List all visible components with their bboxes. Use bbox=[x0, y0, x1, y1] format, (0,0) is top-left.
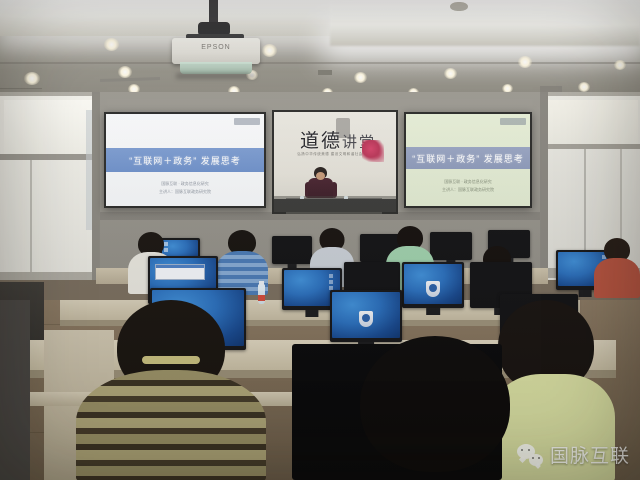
wechat-dot bbox=[532, 457, 534, 459]
slide-subtitle-1: 国脉互联 · 政务信息化研究 bbox=[406, 178, 530, 185]
slide-left: “互联网＋政务” 发展思考 国脉互联 · 政务信息化研究 主讲人：国脉互联政务研… bbox=[106, 114, 264, 206]
slide-logo-icon bbox=[234, 118, 260, 125]
smoke-detector-icon bbox=[450, 2, 468, 11]
monitor-screen bbox=[404, 264, 462, 304]
attendee-body bbox=[594, 258, 640, 298]
monitor-icon[interactable] bbox=[402, 262, 464, 308]
speaker-face bbox=[316, 172, 325, 180]
window-blind-rail bbox=[0, 154, 98, 160]
wechat-logo-icon bbox=[517, 444, 543, 466]
attendee-collar bbox=[142, 356, 200, 364]
ceiling-seam bbox=[0, 62, 640, 64]
ceiling-downlight-icon bbox=[354, 72, 367, 83]
ceiling-downlight-icon bbox=[614, 60, 626, 70]
monitor-screen bbox=[332, 292, 400, 338]
wechat-bubble-small bbox=[529, 454, 543, 466]
attendee-body-striped-shirt bbox=[76, 370, 266, 480]
attendee bbox=[594, 238, 640, 294]
projector-icon bbox=[172, 38, 260, 64]
window-blind-seam bbox=[30, 160, 32, 272]
attendee-head bbox=[360, 336, 510, 472]
wechat-dot bbox=[538, 457, 540, 459]
projector-shadow bbox=[176, 73, 256, 79]
slide-subtitle-2: 主讲人：国脉互联政务研究院 bbox=[106, 188, 264, 195]
backdrop-title-main: 道德 bbox=[300, 130, 342, 152]
window-blind-upper bbox=[548, 100, 638, 146]
ceiling-downlight-icon bbox=[578, 82, 590, 92]
foreground-attendee-striped bbox=[76, 300, 266, 480]
window-frame-right bbox=[540, 92, 548, 288]
ceiling-downlight-icon bbox=[24, 72, 40, 85]
backdrop-subtitle: 弘扬中华传统美德 建设文明和谐社会 bbox=[288, 152, 372, 157]
monitor-stand bbox=[305, 310, 318, 317]
side-cabinet-front bbox=[0, 300, 30, 480]
window-blind-upper bbox=[4, 100, 94, 156]
bottle-cap bbox=[259, 281, 264, 285]
classroom-photo: EPSON “互联网＋政务” 发展思考 国脉互联 · 政务信息化研究 主讲人：国… bbox=[0, 0, 640, 480]
flower-decoration-icon bbox=[362, 140, 384, 162]
projection-screen-left: “互联网＋政务” 发展思考 国脉互联 · 政务信息化研究 主讲人：国脉互联政务研… bbox=[104, 112, 266, 208]
ceiling-downlight-icon bbox=[118, 66, 132, 78]
ceiling-downlight-icon bbox=[262, 44, 277, 57]
monitor-icon[interactable] bbox=[430, 232, 472, 260]
ceiling-light-strip-right bbox=[330, 0, 640, 46]
watermark-text: 国脉互联 bbox=[550, 441, 630, 468]
monitor-stand bbox=[579, 290, 592, 297]
watermark: 国脉互联 bbox=[517, 441, 630, 468]
monitor-stand bbox=[426, 308, 440, 315]
slide-logo-icon bbox=[500, 118, 526, 125]
slide-subtitle-1: 国脉互联 · 政务信息化研究 bbox=[106, 180, 264, 187]
slide-title-text: “互联网＋政务” 发展思考 bbox=[412, 152, 524, 165]
foreground-attendee-center bbox=[340, 336, 530, 480]
ceiling-downlight-icon bbox=[518, 56, 532, 68]
slide-title-band: “互联网＋政务” 发展思考 bbox=[106, 148, 264, 172]
monitor-icon[interactable] bbox=[272, 236, 312, 264]
monitor-bezel bbox=[272, 236, 312, 264]
projection-screen-right: “互联网＋政务” 发展思考 国脉互联 · 政务信息化研究 主讲人：国脉互联政务研… bbox=[404, 112, 532, 208]
monitor-bezel bbox=[430, 232, 472, 260]
desktop-window bbox=[155, 264, 205, 280]
slide-right: “互联网＋政务” 发展思考 国脉互联 · 政务信息化研究 主讲人：国脉互联政务研… bbox=[406, 114, 530, 206]
slide-subtitle-2: 主讲人：国脉互联政务研究院 bbox=[406, 186, 530, 193]
monitor-icon[interactable] bbox=[330, 290, 402, 342]
ceiling-vent bbox=[318, 70, 332, 75]
window-frame-left bbox=[92, 92, 100, 288]
desktop-badge-icon bbox=[426, 281, 440, 297]
slide-title-text: “互联网＋政务” 发展思考 bbox=[129, 154, 241, 167]
window-blind-rail bbox=[546, 144, 640, 149]
desktop-badge-icon bbox=[359, 311, 373, 327]
desktop-icons bbox=[329, 274, 333, 290]
projector-brand-label: EPSON bbox=[172, 44, 260, 51]
stage-base bbox=[274, 199, 396, 212]
ceiling-downlight-icon bbox=[104, 38, 119, 51]
slide-title-band: “互联网＋政务” 发展思考 bbox=[406, 147, 530, 169]
ceiling-downlight-icon bbox=[444, 68, 457, 79]
